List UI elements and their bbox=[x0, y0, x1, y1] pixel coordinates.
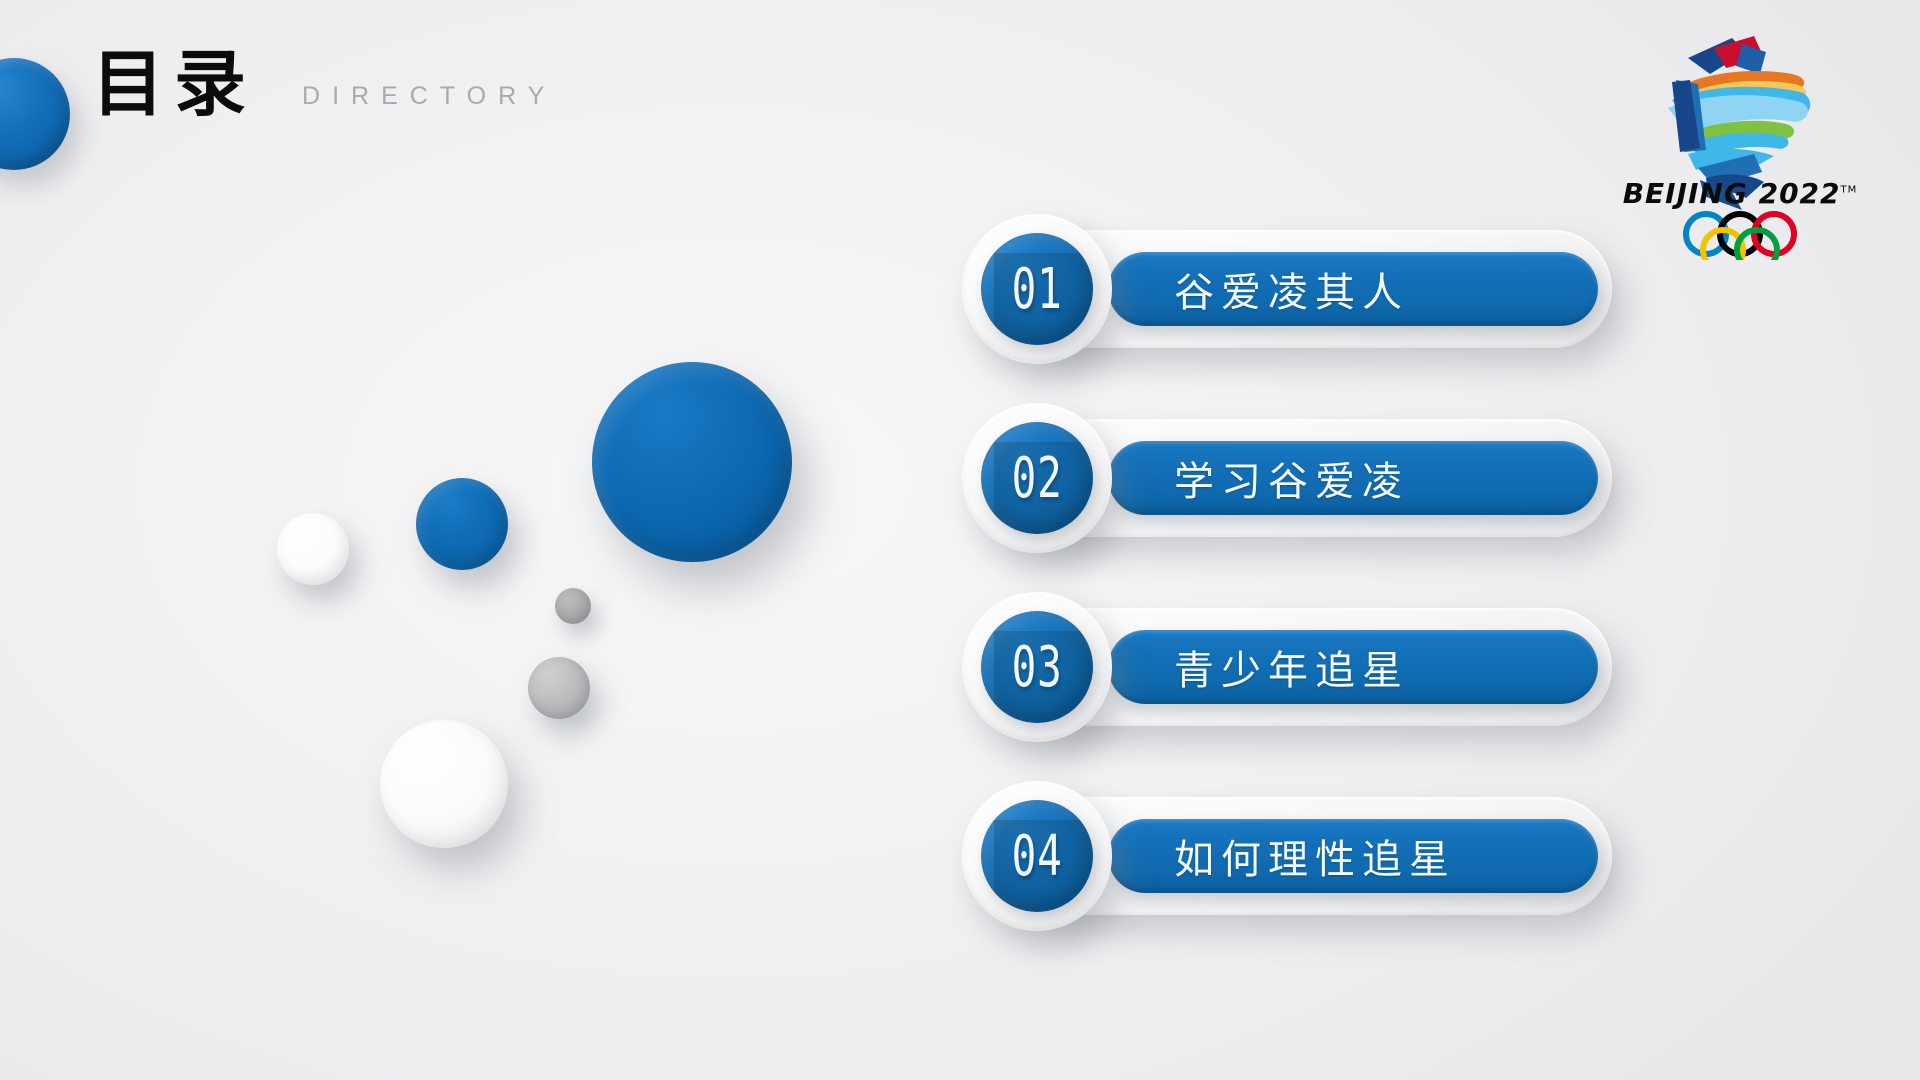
page-subtitle: DIRECTORY bbox=[302, 62, 556, 109]
beijing-2022-logo: BEIJING 2022TM bbox=[1614, 22, 1866, 260]
menu-item-number: 04 bbox=[1011, 828, 1062, 884]
menu-item-badge-inner: 04 bbox=[981, 800, 1093, 912]
beijing-2022-emblem-icon bbox=[1614, 22, 1866, 260]
menu-item-badge-inner: 03 bbox=[981, 611, 1093, 723]
menu-item-number: 02 bbox=[1011, 450, 1062, 506]
menu-item-bar[interactable]: 如何理性追星 bbox=[1108, 819, 1598, 893]
menu-item-badge: 02 bbox=[962, 403, 1112, 553]
menu-item-label: 如何理性追星 bbox=[1174, 827, 1456, 885]
page-title: 目录 bbox=[92, 49, 256, 121]
menu-item-02[interactable]: 学习谷爱凌 02 bbox=[962, 403, 1642, 553]
menu-item-badge: 01 bbox=[962, 214, 1112, 364]
menu-item-label: 青少年追星 bbox=[1174, 638, 1409, 696]
menu-item-01[interactable]: 谷爱凌其人 01 bbox=[962, 214, 1642, 364]
logo-wordmark-text: BEIJING 2022 bbox=[1623, 177, 1841, 210]
menu-item-badge: 04 bbox=[962, 781, 1112, 931]
decor-circle-blue-large bbox=[592, 362, 792, 562]
menu-item-badge-inner: 02 bbox=[981, 422, 1093, 534]
decor-circle-white-large bbox=[380, 720, 508, 848]
slide-root: 目录 DIRECTORY 谷爱凌其人 01 学习谷爱凌 bbox=[0, 0, 1920, 1080]
logo-trademark: TM bbox=[1841, 185, 1858, 196]
menu-item-bar[interactable]: 学习谷爱凌 bbox=[1108, 441, 1598, 515]
menu-item-label: 学习谷爱凌 bbox=[1174, 449, 1409, 507]
menu-item-badge-inner: 01 bbox=[981, 233, 1093, 345]
menu-item-bar[interactable]: 青少年追星 bbox=[1108, 630, 1598, 704]
decor-circle-gray-tiny bbox=[555, 588, 591, 624]
menu-item-label: 谷爱凌其人 bbox=[1174, 260, 1409, 318]
menu-item-number: 01 bbox=[1011, 261, 1062, 317]
slide-header: 目录 DIRECTORY bbox=[0, 30, 556, 140]
menu-item-badge: 03 bbox=[962, 592, 1112, 742]
olympic-rings-icon bbox=[1686, 214, 1794, 260]
menu-item-04[interactable]: 如何理性追星 04 bbox=[962, 781, 1642, 931]
decor-circle-gray-small bbox=[528, 657, 590, 719]
decor-circle-blue-small bbox=[416, 478, 508, 570]
decor-circle-white-small bbox=[277, 513, 349, 585]
menu-item-number: 03 bbox=[1011, 639, 1062, 695]
corner-accent-circle bbox=[0, 58, 70, 170]
logo-wordmark: BEIJING 2022TM bbox=[1614, 180, 1866, 208]
menu-item-03[interactable]: 青少年追星 03 bbox=[962, 592, 1642, 742]
menu-item-bar[interactable]: 谷爱凌其人 bbox=[1108, 252, 1598, 326]
directory-menu: 谷爱凌其人 01 学习谷爱凌 02 青少年追星 bbox=[962, 214, 1642, 931]
